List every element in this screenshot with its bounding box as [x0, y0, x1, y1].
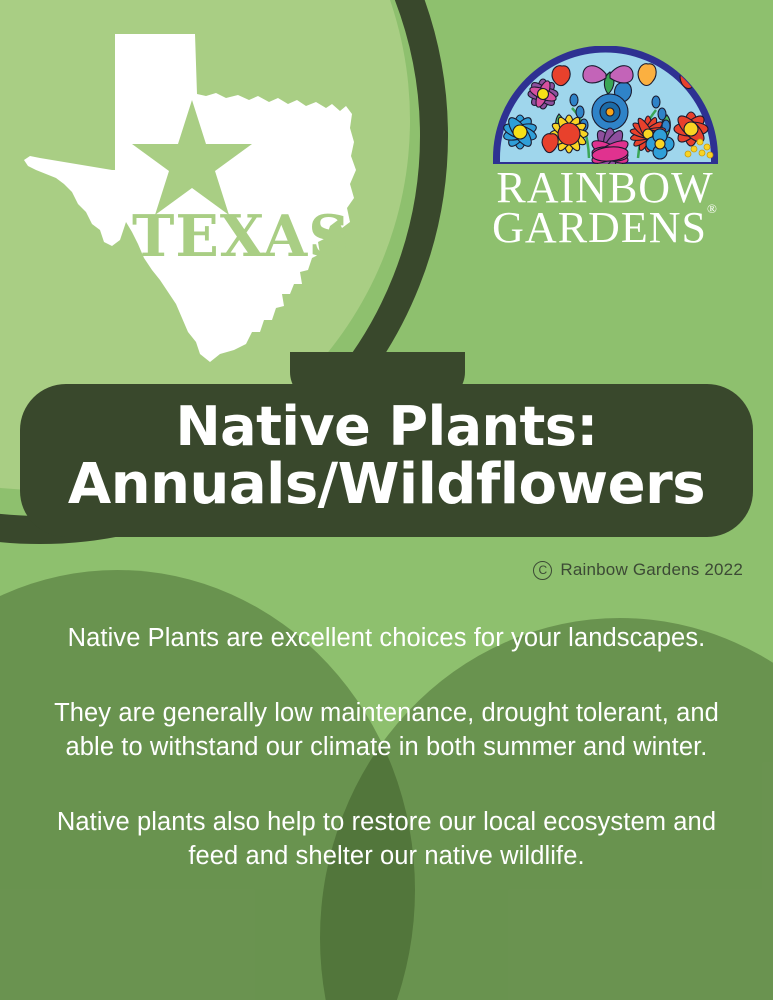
title-banner: Native Plants: Annuals/Wildflowers	[20, 384, 753, 537]
registered-trademark-icon: ®	[707, 201, 718, 216]
flower-arch-icon	[488, 46, 723, 164]
page-title-line-2: Annuals/Wildflowers	[46, 455, 727, 514]
copyright-icon: C	[533, 561, 552, 580]
body-paragraph-2: They are generally low maintenance, drou…	[34, 697, 739, 765]
texas-map-badge: TEXAS	[20, 32, 380, 372]
body-paragraph-3: Native plants also help to restore our l…	[34, 806, 739, 874]
copyright-text: Rainbow Gardens 2022	[560, 560, 743, 580]
body-copy: Native Plants are excellent choices for …	[34, 622, 739, 874]
logo-line-rainbow: RAINBOW	[480, 168, 730, 208]
body-paragraph-1: Native Plants are excellent choices for …	[34, 622, 739, 656]
copyright-notice: C Rainbow Gardens 2022	[533, 560, 743, 580]
logo-line-gardens: GARDENS	[492, 203, 707, 252]
texas-label: TEXAS	[132, 208, 350, 265]
poster-canvas: TEXAS	[0, 0, 773, 1000]
texas-map-icon	[20, 32, 380, 372]
page-title-line-1: Native Plants:	[46, 398, 727, 455]
rainbow-gardens-logo: RAINBOW GARDENS®	[480, 46, 730, 249]
